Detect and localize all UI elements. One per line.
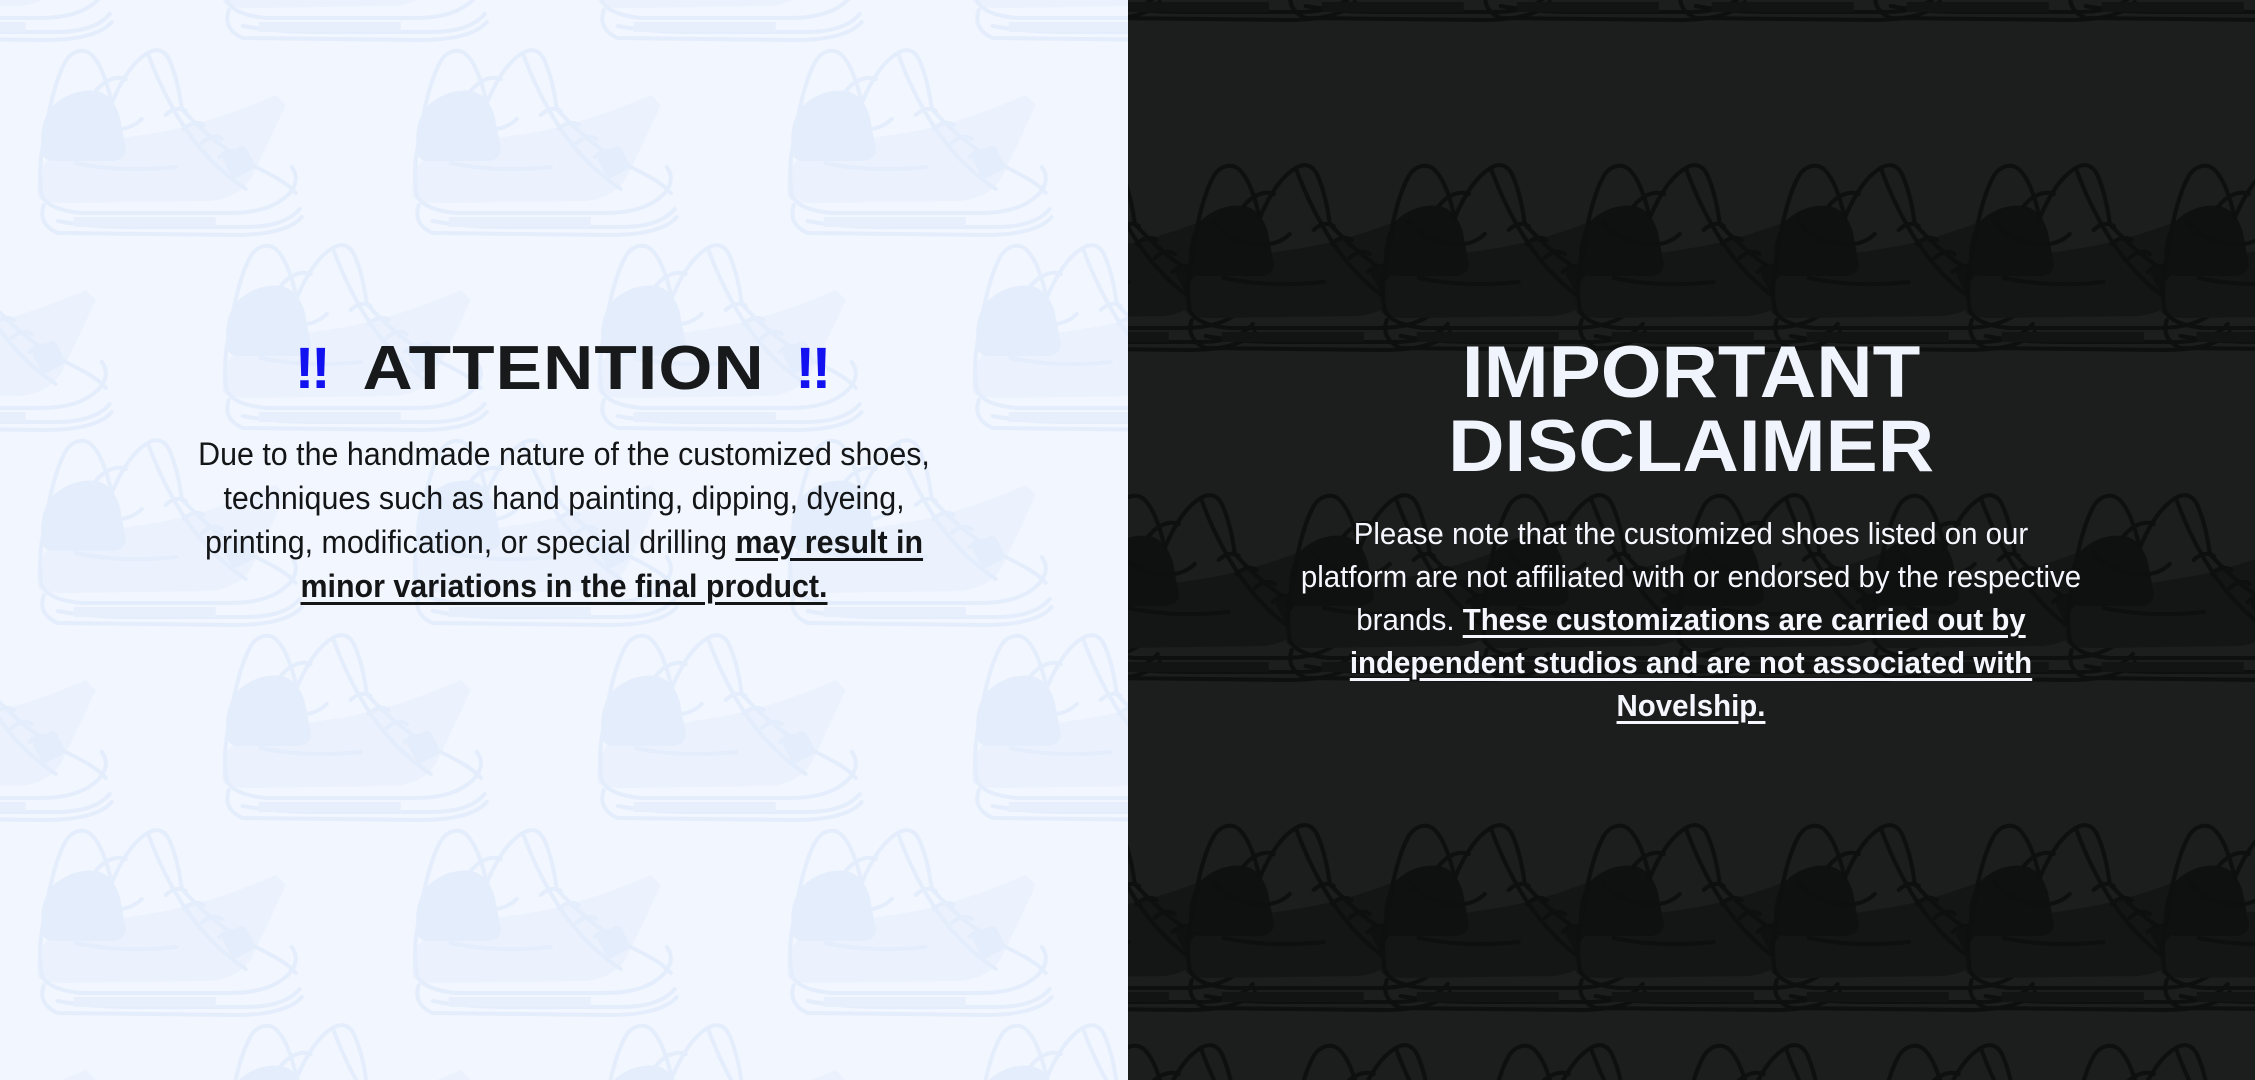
disclaimer-body: Please note that the customized shoes li… (1297, 512, 2086, 727)
disclaimer-heading: IMPORTANT DISCLAIMER (1448, 336, 1934, 483)
customization-notice-banner: ‼ ATTENTION ‼ Due to the handmade nature… (0, 0, 2255, 1080)
attention-heading: ‼ ATTENTION ‼ (293, 338, 834, 400)
attention-panel: ‼ ATTENTION ‼ Due to the handmade nature… (0, 0, 1128, 1080)
double-exclamation-icon-left: ‼ (295, 340, 332, 398)
double-exclamation-icon-right: ‼ (796, 340, 833, 398)
attention-heading-text: ATTENTION (363, 338, 765, 400)
disclaimer-panel: IMPORTANT DISCLAIMER Please note that th… (1128, 0, 2255, 1080)
attention-content: ‼ ATTENTION ‼ Due to the handmade nature… (0, 0, 1128, 608)
disclaimer-heading-line-2: DISCLAIMER (1448, 410, 1934, 484)
attention-body: Due to the handmade nature of the custom… (174, 432, 953, 608)
disclaimer-content: IMPORTANT DISCLAIMER Please note that th… (1128, 0, 2255, 727)
disclaimer-heading-line-1: IMPORTANT (1448, 336, 1934, 410)
